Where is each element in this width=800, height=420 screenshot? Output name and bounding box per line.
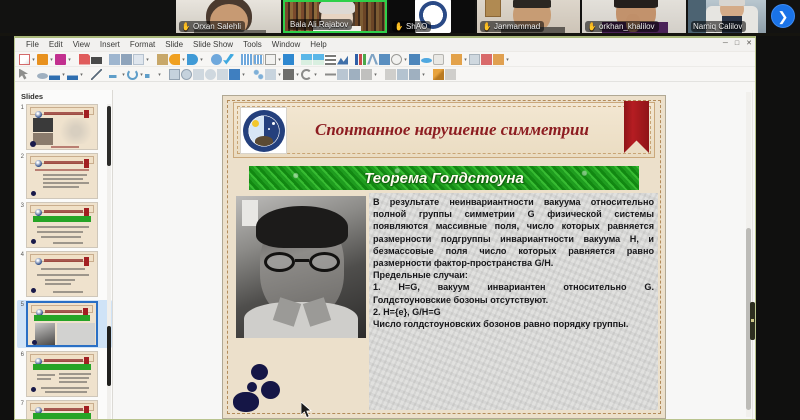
menu-tools[interactable]: Tools bbox=[238, 38, 267, 51]
mini-text-line bbox=[37, 274, 89, 276]
duplicate-slide-icon[interactable] bbox=[313, 54, 324, 65]
slide-thumbnail-item[interactable]: 7 bbox=[17, 400, 112, 419]
filter-icon[interactable] bbox=[397, 69, 408, 80]
participant-name: Namiq Calilov bbox=[693, 21, 742, 32]
mini-title-text bbox=[44, 359, 83, 362]
mini-text-line bbox=[37, 374, 55, 376]
mini-text-line bbox=[53, 242, 83, 244]
toolbar-separator bbox=[349, 54, 354, 65]
participant-tile[interactable]: Namiq Calilov bbox=[688, 0, 766, 33]
paste-dropdown-icon[interactable]: ▾ bbox=[145, 54, 150, 65]
slide-thumbnail-item-selected[interactable]: 5 bbox=[17, 300, 112, 348]
print-icon[interactable] bbox=[91, 57, 102, 64]
toolbar-separator bbox=[205, 54, 210, 65]
rectangle-icon[interactable] bbox=[169, 69, 180, 80]
mini-logo bbox=[35, 209, 42, 216]
canvas-right-edge bbox=[752, 90, 755, 419]
workspace: Slides 1 bbox=[15, 90, 755, 419]
current-slide[interactable]: Спонтанное нарушение симметрии Теорема Г… bbox=[222, 95, 666, 419]
mini-text-line bbox=[51, 146, 79, 148]
toolbar-separator bbox=[151, 54, 156, 65]
mini-blob bbox=[31, 387, 36, 392]
decorative-blobs bbox=[239, 364, 299, 406]
participant-name-badge: ✋ Janmammad bbox=[480, 21, 544, 32]
participant-name-badge: ✋ ShAO bbox=[392, 21, 431, 32]
slide-subtitle: Теорема Голдстоуна bbox=[364, 170, 524, 187]
flowchart-icon[interactable] bbox=[229, 69, 240, 80]
portrait-background-panel bbox=[242, 200, 258, 226]
symbol-shapes-icon[interactable] bbox=[205, 69, 216, 80]
blob-shape bbox=[251, 364, 268, 380]
mic-muted-icon: ✋ bbox=[182, 22, 190, 31]
new-icon[interactable] bbox=[19, 54, 30, 65]
screen: ✋ Orxan Salehli Bala Ali Rajabov ✋ bbox=[0, 0, 800, 420]
menu-help[interactable]: Help bbox=[305, 38, 331, 51]
participant-tile[interactable]: ✋ orkhan_khalilov bbox=[582, 0, 686, 33]
crop-icon[interactable] bbox=[385, 69, 396, 80]
display-grid-icon[interactable] bbox=[241, 54, 252, 65]
toolbar-separator bbox=[295, 54, 300, 65]
redo-dropdown-icon[interactable]: ▾ bbox=[199, 54, 204, 65]
slide-subtitle-band[interactable]: Теорема Голдстоуна bbox=[249, 166, 639, 190]
mini-text-line bbox=[59, 377, 89, 379]
spelling-icon[interactable] bbox=[223, 54, 234, 65]
master-slide-icon[interactable] bbox=[265, 54, 276, 65]
find-replace-icon[interactable] bbox=[211, 54, 222, 65]
textbox-icon[interactable] bbox=[367, 54, 378, 65]
mini-ribbon bbox=[84, 159, 89, 168]
mini-text-line bbox=[59, 373, 91, 375]
shadow-icon[interactable] bbox=[361, 69, 372, 80]
3d-objects-icon[interactable] bbox=[283, 69, 294, 80]
slide-thumbnail-list[interactable]: 1 bbox=[15, 104, 112, 419]
export-pdf-icon[interactable] bbox=[79, 54, 90, 65]
blob-shape bbox=[233, 392, 259, 412]
participant-name: Orxan Salehli bbox=[193, 21, 241, 32]
select-icon[interactable] bbox=[19, 69, 30, 80]
window-controls: ─ □ ✕ bbox=[723, 39, 752, 48]
curve-icon[interactable] bbox=[127, 69, 138, 80]
next-participants-button[interactable]: ❯ bbox=[771, 4, 795, 28]
menu-insert[interactable]: Insert bbox=[95, 38, 125, 51]
blob-shape bbox=[247, 382, 257, 392]
distribute-icon[interactable] bbox=[349, 69, 360, 80]
menu-file[interactable]: File bbox=[21, 38, 44, 51]
slide-number: 5 bbox=[17, 301, 26, 308]
line-color-dropdown-icon[interactable]: ▾ bbox=[61, 69, 66, 80]
mini-green-band bbox=[33, 216, 91, 222]
image-icon[interactable] bbox=[433, 54, 444, 65]
toolbar-separator bbox=[247, 69, 252, 80]
save-icon[interactable] bbox=[55, 54, 66, 65]
curve-dropdown-icon[interactable]: ▾ bbox=[139, 69, 144, 80]
rotate-dropdown-icon[interactable]: ▾ bbox=[313, 69, 318, 80]
standard-toolbar: ▾ ▾ ▾ ▾ ▾ ▾ ▾ bbox=[15, 52, 755, 67]
mini-logo bbox=[35, 160, 42, 167]
menu-bar: File Edit View Insert Format Slide Slide… bbox=[15, 38, 755, 52]
body-paragraph-1: В результате неинвариантности вакуума от… bbox=[373, 196, 654, 269]
mic-muted-icon: ✋ bbox=[395, 22, 403, 31]
mini-blob bbox=[31, 239, 36, 244]
mini-logo bbox=[35, 258, 42, 265]
flowchart-dropdown-icon[interactable]: ▾ bbox=[241, 69, 246, 80]
video-conference-strip: ✋ Orxan Salehli Bala Ali Rajabov ✋ bbox=[0, 0, 800, 36]
mini-text-line bbox=[53, 291, 83, 293]
mini-text-line bbox=[43, 186, 79, 188]
mini-photo bbox=[33, 118, 53, 132]
menu-window[interactable]: Window bbox=[267, 38, 305, 51]
mini-title-text bbox=[44, 408, 83, 411]
chart-icon[interactable] bbox=[355, 54, 366, 65]
toolbar-separator bbox=[103, 54, 108, 65]
slide-title-block[interactable]: Спонтанное нарушение симметрии bbox=[233, 102, 655, 158]
media-dropdown-icon[interactable]: ▾ bbox=[463, 54, 468, 65]
mic-muted-icon: ✋ bbox=[588, 22, 596, 31]
copy-icon[interactable] bbox=[133, 54, 144, 65]
slide-number: 6 bbox=[17, 351, 26, 358]
body-paragraph-2: Предельные случаи: bbox=[373, 269, 654, 281]
slides-panel-title: Slides bbox=[15, 90, 112, 103]
toolbar-separator bbox=[319, 69, 324, 80]
glasses-lens-left bbox=[264, 252, 295, 272]
stars-dropdown-icon[interactable]: ▾ bbox=[277, 69, 282, 80]
mini-text-line bbox=[45, 391, 87, 393]
participant-name: ShAO bbox=[406, 21, 427, 32]
toolbar-separator bbox=[427, 69, 432, 80]
mini-green-band bbox=[34, 315, 90, 321]
sidebar-show-button[interactable] bbox=[750, 302, 755, 340]
mini-title-text bbox=[45, 310, 82, 313]
mini-text-line bbox=[35, 169, 89, 171]
slide-number: 3 bbox=[17, 202, 26, 209]
body-paragraph-5: Число голдстоуновских бозонов равно поря… bbox=[373, 318, 654, 330]
save-dropdown-icon[interactable]: ▾ bbox=[67, 54, 72, 65]
participant-name: orkhan_khalilov bbox=[599, 21, 655, 32]
slide-thumbnail-item[interactable]: 6 bbox=[17, 351, 112, 397]
menu-slide[interactable]: Slide bbox=[160, 38, 188, 51]
mini-title-bar bbox=[30, 156, 94, 164]
slide-thumbnail[interactable] bbox=[26, 351, 98, 397]
mini-title-text bbox=[44, 161, 83, 164]
mini-text-line bbox=[43, 178, 83, 180]
display-views-icon[interactable] bbox=[253, 54, 264, 65]
toolbar-separator bbox=[103, 69, 108, 80]
points-dropdown-icon[interactable]: ▾ bbox=[421, 69, 426, 80]
arrow-dropdown-icon[interactable]: ▾ bbox=[121, 69, 126, 80]
menu-view[interactable]: View bbox=[68, 38, 95, 51]
mini-green-band bbox=[33, 364, 91, 370]
block-arrows-icon[interactable] bbox=[217, 69, 228, 80]
mini-text-line bbox=[43, 174, 87, 176]
mini-body-panel bbox=[57, 323, 95, 345]
connector-icon[interactable] bbox=[145, 74, 156, 78]
mini-text-line bbox=[59, 381, 87, 383]
new-slide-icon[interactable] bbox=[301, 54, 312, 65]
toolbar-separator bbox=[235, 54, 240, 65]
fontwork-icon[interactable] bbox=[409, 54, 420, 65]
slide-thumbnail-item[interactable]: 2 bbox=[17, 153, 112, 199]
participant-tile[interactable]: ✋ Orxan Salehli bbox=[176, 0, 281, 33]
mini-text-line bbox=[37, 378, 51, 380]
portrait-shirt bbox=[244, 302, 358, 338]
mini-text-line bbox=[37, 226, 89, 228]
fill-color-dropdown-icon[interactable]: ▾ bbox=[79, 69, 84, 80]
participant-tile[interactable]: ✋ ShAO bbox=[389, 0, 475, 33]
slide-number: 2 bbox=[17, 153, 26, 160]
insert-audio-icon[interactable] bbox=[481, 54, 492, 65]
participant-name-badge: ✋ Orxan Salehli bbox=[179, 21, 245, 32]
slides-panel-scrollbar-thumb[interactable] bbox=[107, 106, 111, 166]
mini-text-line bbox=[41, 236, 81, 238]
slide-thumbnail[interactable] bbox=[26, 104, 98, 150]
slide-title: Спонтанное нарушение симметрии bbox=[294, 114, 610, 146]
line-icon[interactable] bbox=[91, 69, 102, 80]
undo-dropdown-icon[interactable]: ▾ bbox=[181, 54, 186, 65]
layout-icon[interactable] bbox=[325, 54, 336, 65]
minimize-icon[interactable]: ─ bbox=[723, 39, 728, 48]
mini-green-band bbox=[33, 413, 91, 419]
drawing-toolbar: ▾ ▾ ▾ ▾ ▾ ▾ ▾ ▾ ▾ ▾ bbox=[15, 67, 755, 82]
slide-number: 7 bbox=[17, 400, 26, 407]
mini-text-line bbox=[45, 279, 75, 281]
insert-media-icon[interactable] bbox=[451, 54, 462, 65]
mini-title-bar bbox=[30, 403, 94, 411]
mini-title-text bbox=[44, 210, 83, 213]
participant-tile-active[interactable]: Bala Ali Rajabov bbox=[283, 0, 387, 33]
toolbar-separator bbox=[163, 69, 168, 80]
redo-icon[interactable] bbox=[187, 54, 198, 65]
glasses-lens-right bbox=[309, 252, 340, 272]
toolbar-separator bbox=[73, 54, 78, 65]
toolbar-separator bbox=[445, 54, 450, 65]
participant-tile[interactable]: ✋ Janmammad bbox=[477, 0, 580, 33]
libreoffice-impress-window: File Edit View Insert Format Slide Slide… bbox=[14, 36, 756, 420]
mini-title-bar bbox=[30, 205, 94, 213]
mini-text-line bbox=[43, 182, 89, 184]
portrait-hair bbox=[256, 206, 348, 248]
insert-shapes-icon[interactable] bbox=[493, 54, 504, 65]
mini-ribbon bbox=[84, 257, 89, 266]
open-icon[interactable] bbox=[37, 54, 48, 65]
slide-thumbnail-item[interactable]: 1 bbox=[17, 104, 112, 150]
start-slideshow-icon[interactable] bbox=[283, 54, 294, 65]
stars-icon[interactable] bbox=[265, 69, 276, 80]
mini-title-text bbox=[44, 112, 83, 115]
slide-thumbnail[interactable] bbox=[26, 153, 98, 199]
slide-edit-canvas[interactable]: Спонтанное нарушение симметрии Теорема Г… bbox=[113, 90, 755, 419]
slide-thumbnail[interactable] bbox=[26, 301, 98, 347]
slide-thumbnail-item[interactable]: 4 bbox=[17, 251, 112, 297]
participant-name-badge: Bala Ali Rajabov bbox=[288, 19, 352, 30]
mini-logo bbox=[35, 111, 42, 118]
participant-name-badge: Namiq Calilov bbox=[691, 21, 746, 32]
mini-title-text bbox=[44, 259, 83, 262]
points-icon[interactable] bbox=[409, 69, 420, 80]
arrow-icon[interactable] bbox=[109, 75, 120, 78]
mini-diagram bbox=[57, 118, 95, 144]
insert-table-icon[interactable] bbox=[469, 54, 480, 65]
participant-name: Janmammad bbox=[494, 21, 540, 32]
zoom-icon[interactable] bbox=[37, 73, 48, 79]
slide-body-text: В результате неинвариантности вакуума от… bbox=[373, 196, 654, 330]
slide-properties-icon[interactable] bbox=[337, 54, 348, 65]
mini-portrait bbox=[35, 323, 55, 345]
goldstone-portrait[interactable] bbox=[236, 196, 366, 338]
toolbar-separator bbox=[31, 69, 36, 80]
fill-color-icon[interactable] bbox=[67, 69, 78, 80]
body-paragraph-4: 2. H={e}, G/H=G bbox=[373, 306, 654, 318]
slide-number: 1 bbox=[17, 104, 26, 111]
connector-dropdown-icon[interactable]: ▾ bbox=[157, 69, 162, 80]
rotate-icon[interactable] bbox=[301, 69, 312, 80]
toggle-extrusion-icon[interactable] bbox=[445, 69, 456, 80]
align-icon[interactable] bbox=[325, 69, 336, 80]
open-dropdown-icon[interactable]: ▾ bbox=[49, 54, 54, 65]
cut-icon[interactable] bbox=[121, 54, 132, 65]
mini-blob bbox=[30, 141, 36, 147]
special-char-dropdown-icon[interactable]: ▾ bbox=[403, 54, 408, 65]
hyperlink-icon[interactable] bbox=[421, 58, 432, 63]
special-character-icon[interactable] bbox=[391, 54, 402, 65]
slides-panel: Slides 1 bbox=[15, 90, 113, 419]
highlight-icon[interactable] bbox=[433, 69, 444, 80]
mini-text-line bbox=[41, 268, 85, 270]
threed-dropdown-icon[interactable]: ▾ bbox=[295, 69, 300, 80]
mini-title-bar bbox=[30, 107, 94, 115]
master-dropdown-icon[interactable]: ▾ bbox=[277, 54, 282, 65]
toolbar-separator bbox=[85, 69, 90, 80]
insert-text-icon[interactable] bbox=[379, 54, 390, 65]
slide-body-block[interactable]: В результате неинвариантности вакуума от… bbox=[369, 193, 658, 410]
seal-graphic bbox=[243, 110, 285, 152]
slides-panel-scrollbar-thumb-lower[interactable] bbox=[107, 326, 111, 386]
slide-thumbnail[interactable] bbox=[26, 202, 98, 248]
portrait-glasses bbox=[264, 252, 340, 272]
slide-thumbnail[interactable] bbox=[26, 251, 98, 297]
shadow-dropdown-icon[interactable]: ▾ bbox=[373, 69, 378, 80]
glasses-bridge bbox=[295, 259, 309, 262]
participant-name-badge: ✋ orkhan_khalilov bbox=[585, 21, 659, 32]
participant-name: Bala Ali Rajabov bbox=[290, 19, 348, 30]
undo-icon[interactable] bbox=[169, 54, 180, 65]
maximize-icon[interactable]: □ bbox=[735, 39, 739, 48]
body-paragraph-3: 1. H=G, вакуум инвариантен относительно … bbox=[373, 281, 654, 305]
mini-text-line bbox=[41, 387, 89, 389]
close-icon[interactable]: ✕ bbox=[746, 39, 752, 48]
callout-icon[interactable] bbox=[253, 69, 264, 80]
new-dropdown-icon[interactable]: ▾ bbox=[31, 54, 36, 65]
shapes-dropdown-icon[interactable]: ▾ bbox=[505, 54, 510, 65]
toolbar-separator bbox=[379, 69, 384, 80]
shao-observatory-seal bbox=[240, 107, 287, 154]
mini-title-bar bbox=[30, 254, 94, 262]
line-color-icon[interactable] bbox=[49, 69, 60, 80]
mini-blob bbox=[32, 340, 37, 345]
slide-number: 4 bbox=[17, 251, 26, 258]
slide-thumbnail[interactable] bbox=[26, 400, 98, 419]
mini-blob bbox=[31, 288, 36, 293]
mini-text-line bbox=[37, 231, 83, 233]
menu-edit[interactable]: Edit bbox=[44, 38, 68, 51]
mini-text-line bbox=[45, 283, 71, 285]
ellipse-icon[interactable] bbox=[181, 69, 192, 80]
menu-slide-show[interactable]: Slide Show bbox=[188, 38, 238, 51]
basic-shapes-icon[interactable] bbox=[193, 69, 204, 80]
mic-muted-icon: ✋ bbox=[483, 22, 491, 31]
mini-blob bbox=[31, 191, 36, 196]
mini-title-bar bbox=[31, 305, 93, 313]
arrange-icon[interactable] bbox=[337, 69, 348, 80]
chevron-right-icon: ❯ bbox=[778, 10, 789, 23]
mini-title-bar bbox=[30, 354, 94, 362]
clone-formatting-icon[interactable] bbox=[157, 54, 168, 65]
print-preview-icon[interactable] bbox=[109, 54, 120, 65]
blob-shape bbox=[261, 381, 280, 399]
menu-format[interactable]: Format bbox=[125, 38, 160, 51]
mini-photo bbox=[33, 133, 53, 145]
slide-thumbnail-item[interactable]: 3 bbox=[17, 202, 112, 248]
